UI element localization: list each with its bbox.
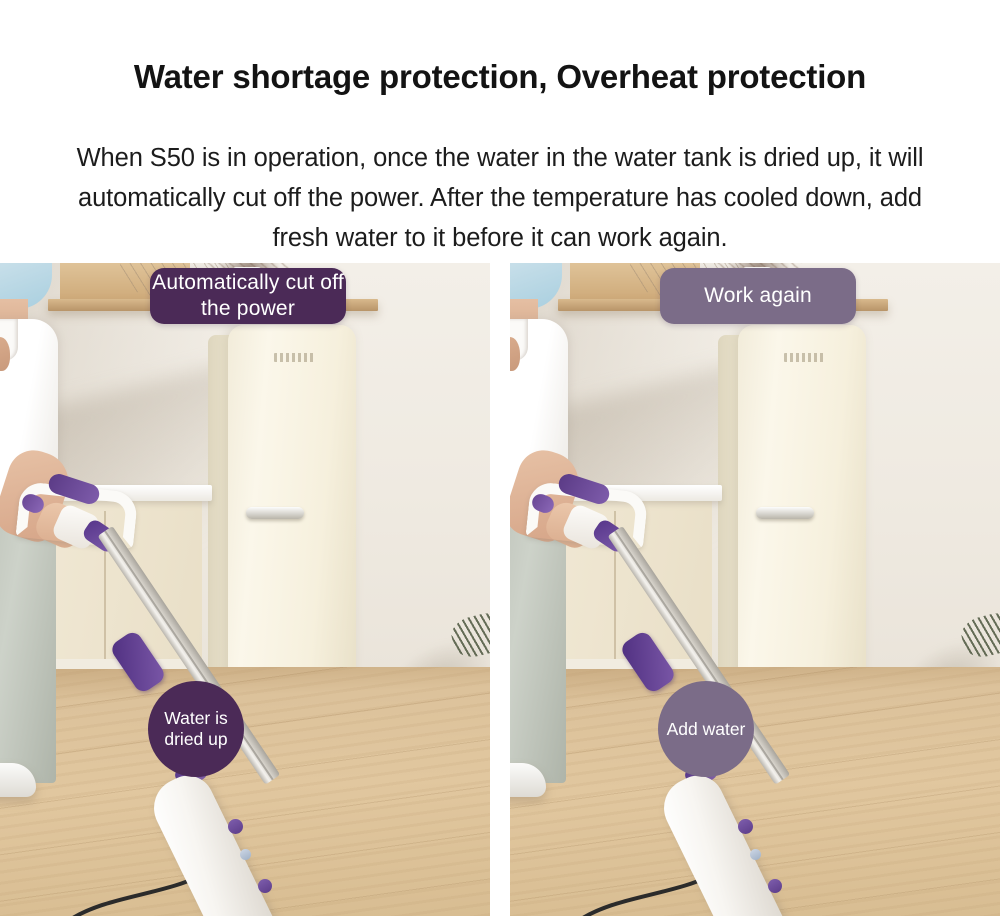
page-title: Water shortage protection, Overheat prot… (0, 56, 1000, 98)
header-section: Water shortage protection, Overheat prot… (0, 0, 1000, 263)
mop-indicator (240, 849, 251, 860)
mop-clamp (109, 629, 168, 695)
mop-button (768, 879, 782, 893)
panel-badge-right: Work again (660, 268, 856, 324)
steam-mop (510, 263, 1000, 916)
mop-button (228, 819, 243, 834)
panel-callout-left: Water is dried up (148, 681, 244, 777)
mop-button (738, 819, 753, 834)
panel-right: Work again Add water (510, 263, 1000, 916)
mop-water-tank (144, 767, 282, 916)
comparison-panels: Automatically cut off the power Water is… (0, 263, 1000, 916)
mop-button (258, 879, 272, 893)
page-description: When S50 is in operation, once the water… (50, 138, 950, 258)
panel-left: Automatically cut off the power Water is… (0, 263, 490, 916)
mop-clamp (619, 629, 678, 695)
mop-water-tank (654, 767, 792, 916)
panel-callout-right: Add water (658, 681, 754, 777)
panel-badge-left: Automatically cut off the power (150, 268, 346, 324)
mop-indicator (750, 849, 761, 860)
steam-mop (0, 263, 490, 916)
